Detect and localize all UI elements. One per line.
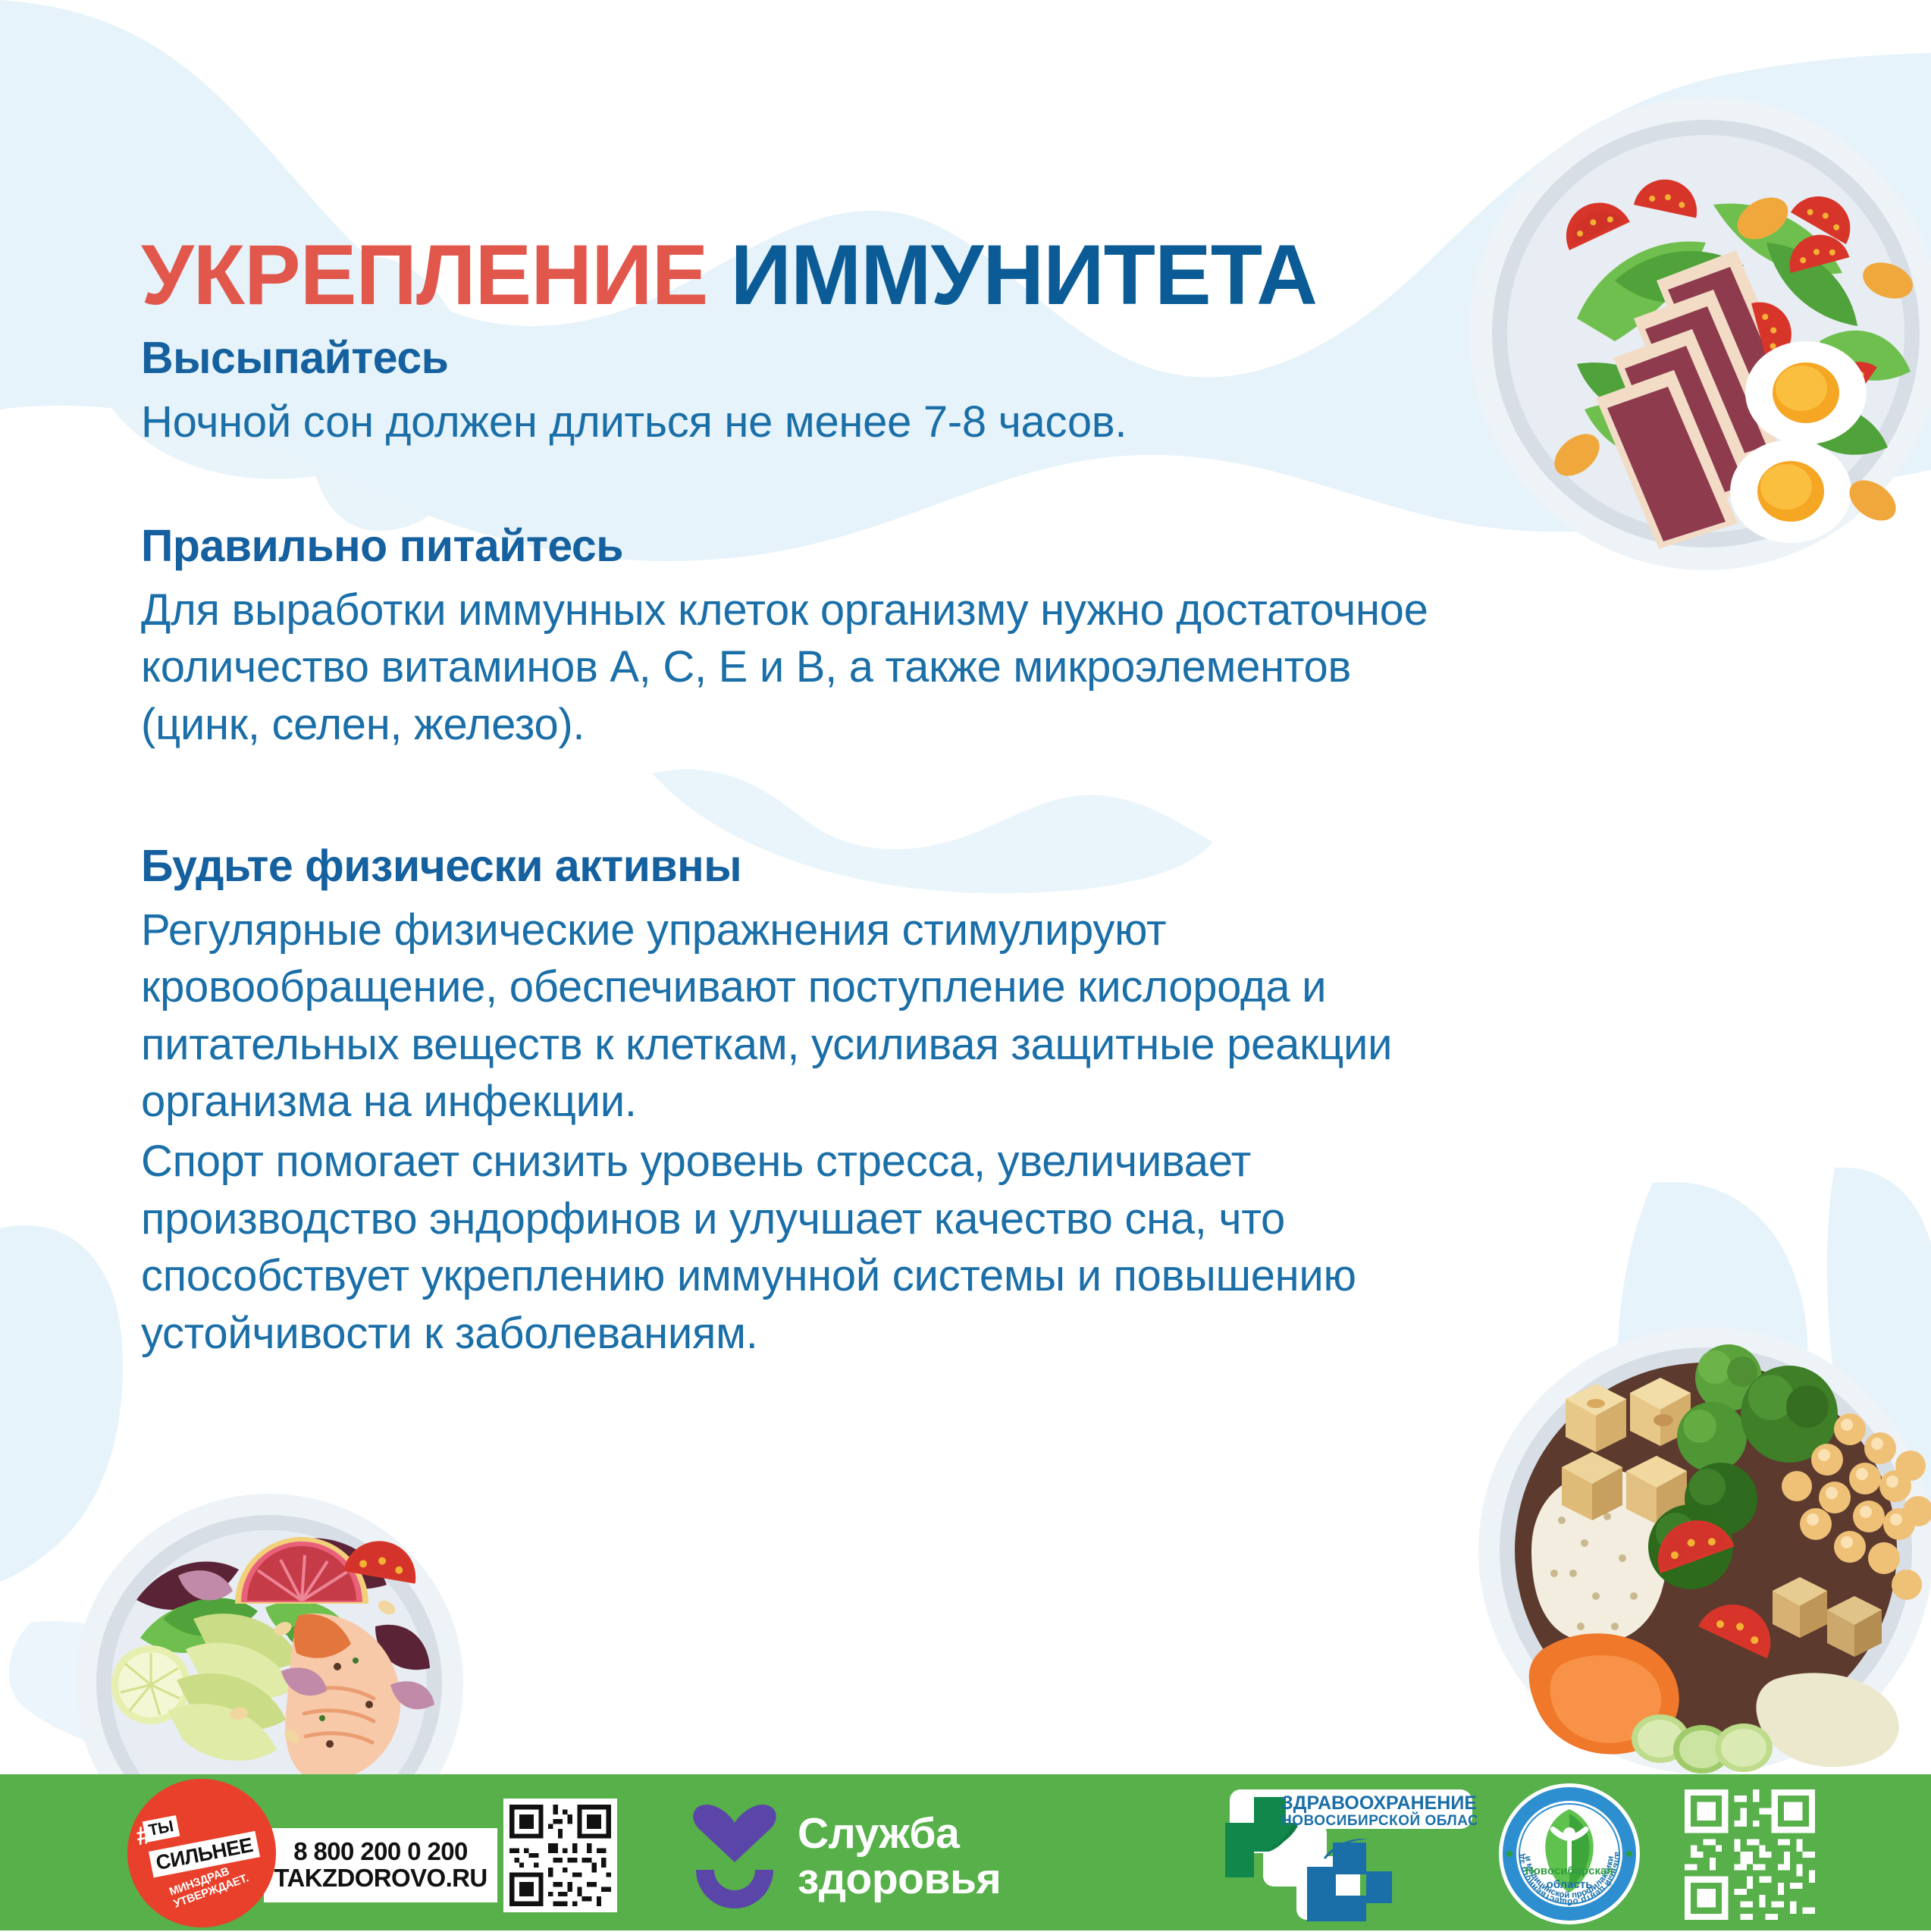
qr-takzdorovo[interactable] [503,1799,617,1912]
page-title: УКРЕПЛЕНИЕ ИММУНИТЕТА [141,233,1317,318]
zdravoohranenie-logo: ЗДРАВООХРАНЕНИЕ НОВОСИБИРСКОЙ ОБЛАСТИ [1212,1783,1477,1927]
section-activity-paragraph-1: Регулярные физические упражнения стимули… [141,902,1506,1131]
contact-site: TAKZDOROVO.RU [274,1865,487,1892]
regional-center-seal: Региональный центр общественного здоровь… [1497,1782,1641,1926]
section-nutrition: Правильно питайтесь Для выработки иммунн… [141,522,1460,753]
section-activity-paragraph-2: Спорт помогает снизить уровень стресса, … [141,1133,1506,1362]
section-sleep-heading: Высыпайтесь [141,334,1430,383]
section-activity: Будьте физически активны Регулярные физи… [141,842,1506,1362]
heart-smile-icon [690,1803,779,1909]
minzdrav-badge: # ТЫ СИЛЬНЕЕ МИНЗДРАВУТВЕРЖДАЕТ. [127,1779,276,1927]
sluzhba-line-2: здоровья [798,1856,1001,1902]
title-part-red: УКРЕПЛЕНИЕ [141,227,707,322]
qr-center[interactable] [1685,1789,1815,1920]
svg-text:Новосибирская: Новосибирская [1525,1865,1613,1877]
section-sleep: Высыпайтесь Ночной сон должен длиться не… [141,334,1430,450]
sluzhba-zdorovya-text: Служба здоровья [798,1811,1001,1902]
contact-phone: 8 800 200 0 200 [293,1839,468,1865]
section-sleep-paragraph: Ночной сон должен длиться не менее 7-8 ч… [141,394,1430,450]
section-nutrition-paragraph: Для выработки иммунных клеток организму … [141,582,1460,753]
title-part-blue: ИММУНИТЕТА [730,227,1317,322]
section-nutrition-heading: Правильно питайтесь [141,522,1460,571]
section-activity-heading: Будьте физически активны [141,842,1506,891]
sluzhba-zdorovya-logo: Служба здоровья [690,1780,1001,1932]
poster-content: УКРЕПЛЕНИЕ ИММУНИТЕТА Высыпайтесь Ночной… [0,0,1931,1930]
svg-text:ЗДРАВООХРАНЕНИЕ: ЗДРАВООХРАНЕНИЕ [1281,1792,1477,1814]
contact-plaque: 8 800 200 0 200 TAKZDOROVO.RU [264,1828,497,1902]
svg-text:область: область [1547,1878,1593,1891]
sluzhba-line-1: Служба [798,1811,1001,1856]
minzdrav-line-1: ТЫ [143,1815,180,1843]
svg-text:НОВОСИБИРСКОЙ ОБЛАСТИ: НОВОСИБИРСКОЙ ОБЛАСТИ [1281,1812,1477,1829]
